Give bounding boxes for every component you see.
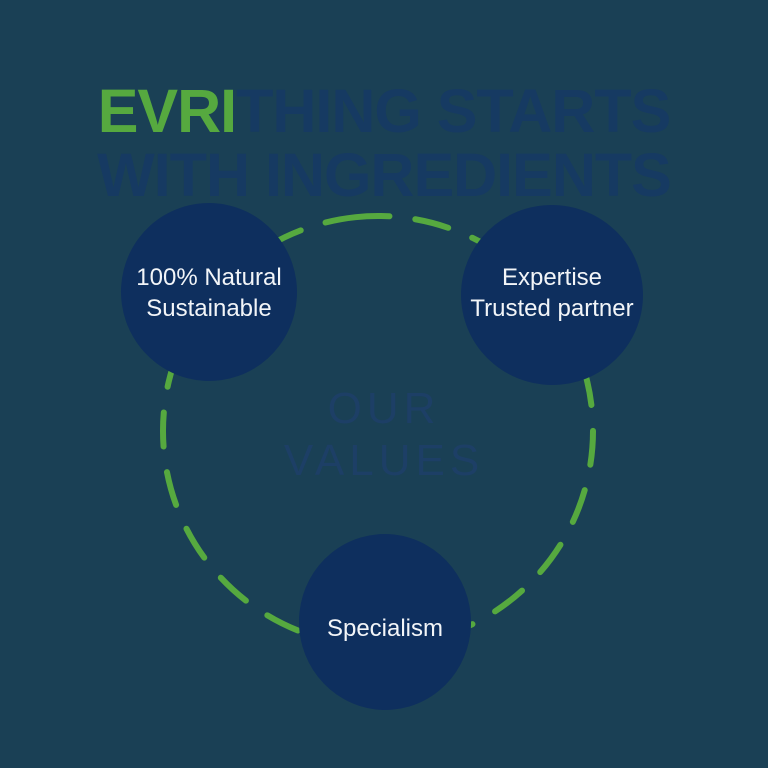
values-diagram [0, 0, 768, 768]
value-label-line-1: Expertise [442, 262, 662, 293]
value-label-line-2: Trusted partner [442, 293, 662, 324]
values-poster: EVRITHING STARTS WITH INGREDIENTS OUR VA… [0, 0, 768, 768]
value-label-line-2: Sustainable [109, 293, 309, 324]
value-label-line-1: Specialism [285, 613, 485, 644]
value-label-specialism[interactable]: Specialism [285, 613, 485, 644]
value-label-natural-sustainable[interactable]: 100% Natural Sustainable [109, 262, 309, 324]
value-label-line-1: 100% Natural [109, 262, 309, 293]
value-label-expertise-trusted-partner[interactable]: Expertise Trusted partner [442, 262, 662, 324]
